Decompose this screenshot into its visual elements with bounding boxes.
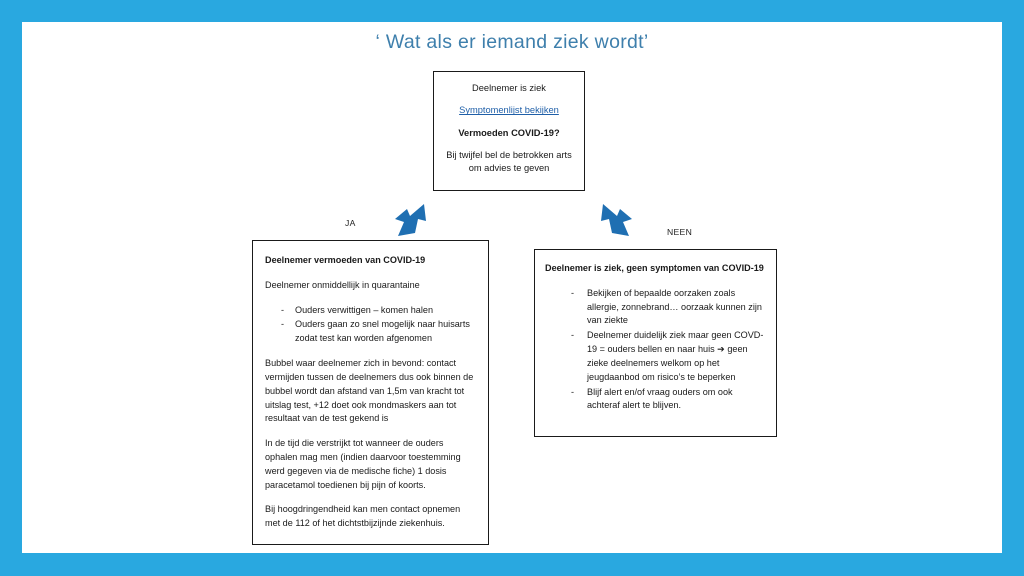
frame-band-top [0,0,1024,22]
left-box-intro: Deelnemer onmiddellijk in quarantaine [265,279,476,293]
right-box-heading: Deelnemer is ziek, geen symptomen van CO… [545,262,766,276]
start-box-line-participant-sick: Deelnemer is ziek [441,82,577,94]
list-item: Bekijken of bepaalde oorzaken zoals alle… [545,287,766,328]
start-box-advice: Bij twijfel bel de betrokken arts om adv… [441,149,577,174]
start-box-question: Vermoeden COVID-19? [441,127,577,139]
frame-band-bottom [0,553,1024,576]
list-item: Ouders verwittigen – komen halen [265,304,476,318]
arrow-down-right-icon [597,200,637,240]
right-box-bullet-list: Bekijken of bepaalde oorzaken zoals alle… [545,287,766,413]
flowchart-box-start: Deelnemer is ziek Symptomenlijst bekijke… [433,71,585,191]
list-item: Ouders gaan zo snel mogelijk naar huisar… [265,318,476,346]
left-box-heading: Deelnemer vermoeden van COVID-19 [265,254,476,268]
slide-canvas: ‘ Wat als er iemand ziek wordt’ Deelneme… [0,0,1024,576]
list-item: Blijf alert en/of vraag ouders om ook ac… [545,386,766,414]
page-title: ‘ Wat als er iemand ziek wordt’ [0,31,1024,54]
flowchart-box-no-covid-symptoms: Deelnemer is ziek, geen symptomen van CO… [534,249,777,437]
left-box-paragraph-bubbel: Bubbel waar deelnemer zich in bevond: co… [265,357,476,426]
branch-label-neen: NEEN [667,227,692,237]
symptom-list-link-row: Symptomenlijst bekijken [441,104,577,116]
left-box-paragraph-paracetamol: In de tijd die verstrijkt tot wanneer de… [265,437,476,492]
left-box-paragraph-emergency: Bij hoogdringendheid kan men contact opn… [265,503,476,531]
list-item: Deelnemer duidelijk ziek maar geen COVD-… [545,329,766,384]
branch-label-ja: JA [345,218,356,228]
frame-band-right [1002,0,1024,576]
flowchart-box-suspected-covid: Deelnemer vermoeden van COVID-19 Deelnem… [252,240,489,545]
symptomenlijst-link[interactable]: Symptomenlijst bekijken [459,105,559,115]
arrow-down-left-icon [390,200,430,240]
frame-band-left [0,0,22,576]
left-box-bullet-list: Ouders verwittigen – komen halen Ouders … [265,304,476,346]
